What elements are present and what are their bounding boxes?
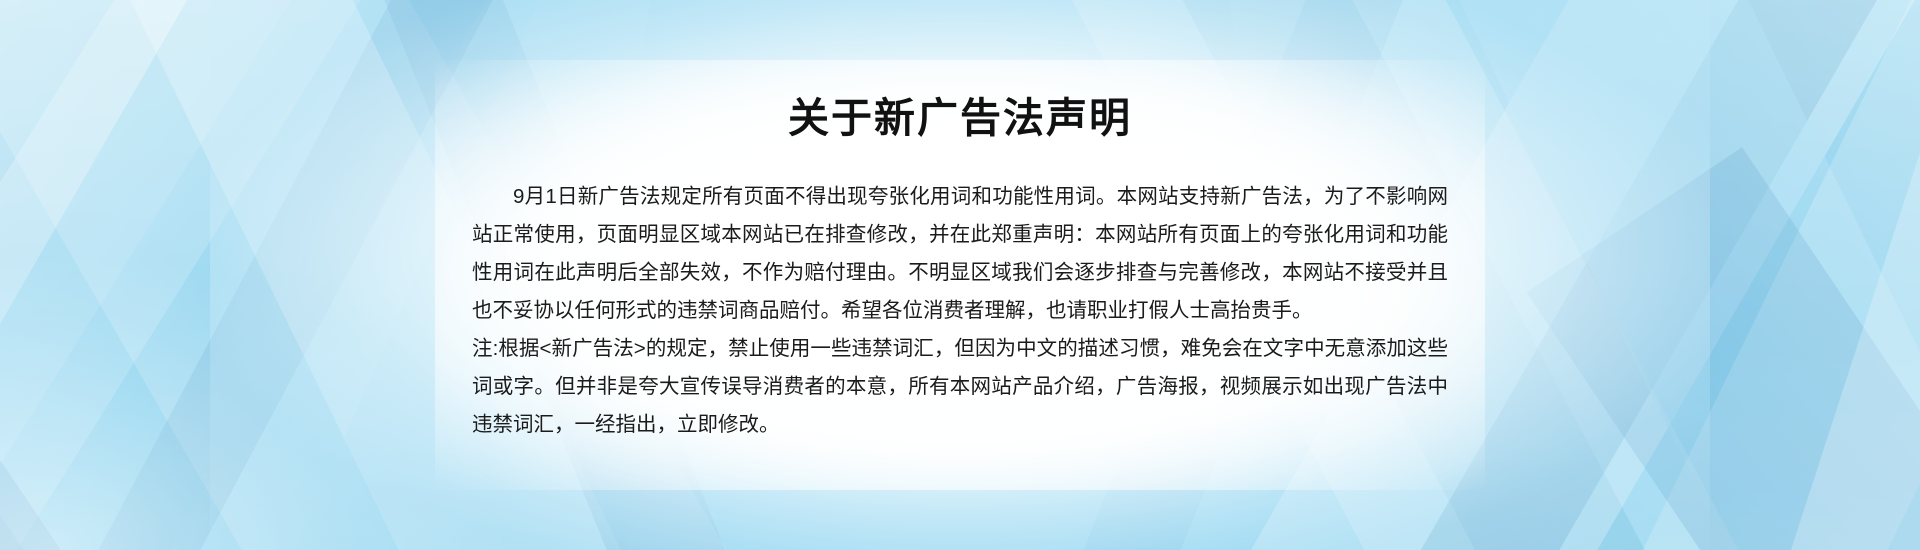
statement-content: 关于新广告法声明 9月1日新广告法规定所有页面不得出现夸张化用词和功能性用词。本… <box>470 0 1450 550</box>
statement-paragraph-note: 注:根据<新广告法>的规定，禁止使用一些违禁词汇，但因为中文的描述习惯，难免会在… <box>472 330 1448 444</box>
statement-body: 9月1日新广告法规定所有页面不得出现夸张化用词和功能性用词。本网站支持新广告法，… <box>472 178 1448 444</box>
statement-paragraph-main: 9月1日新广告法规定所有页面不得出现夸张化用词和功能性用词。本网站支持新广告法，… <box>472 178 1448 330</box>
advertising-law-statement-banner: 关于新广告法声明 9月1日新广告法规定所有页面不得出现夸张化用词和功能性用词。本… <box>0 0 1920 550</box>
page-title: 关于新广告法声明 <box>470 96 1450 141</box>
